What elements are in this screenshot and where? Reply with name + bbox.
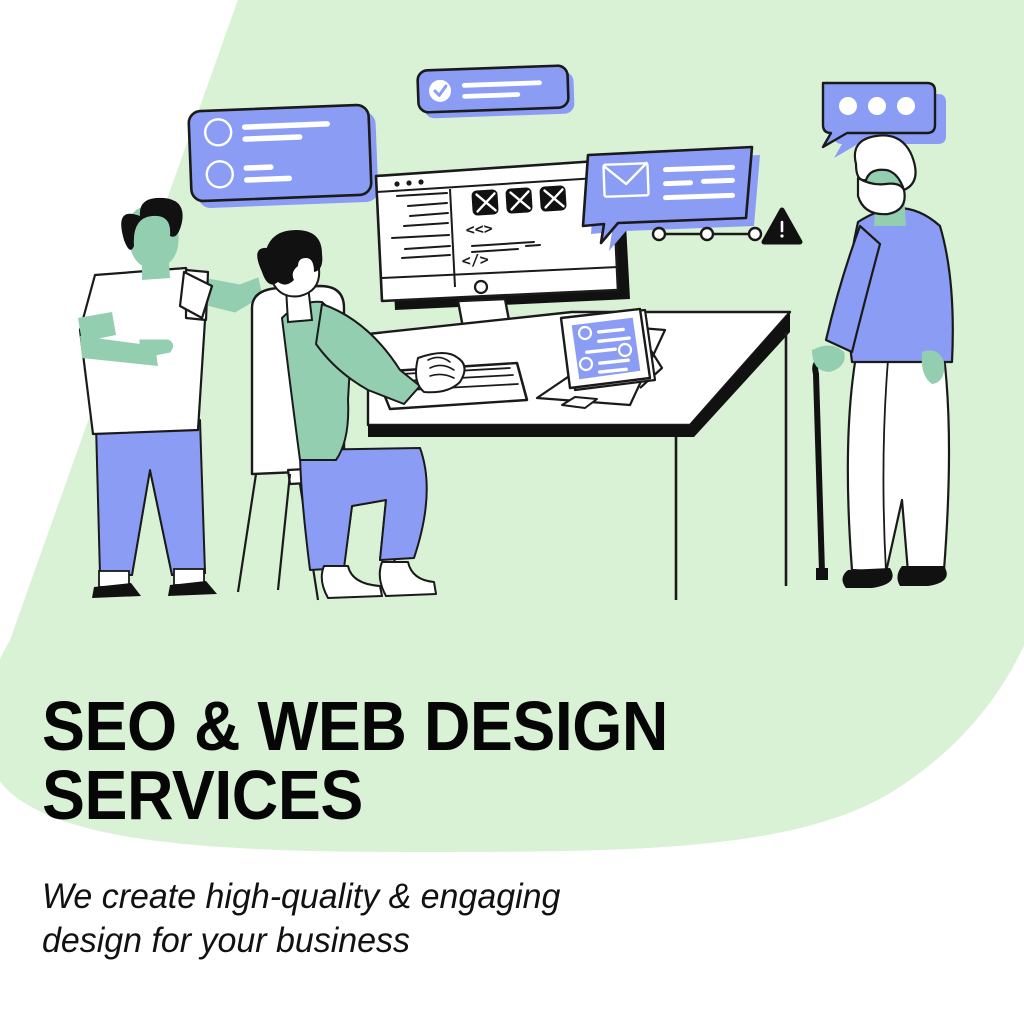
task-complete-card[interactable] [417, 65, 574, 118]
poster-canvas: <<> </> [0, 0, 1024, 1024]
illustration-svg: <<> </> [0, 0, 1024, 1024]
code-tag-close: </> [461, 250, 489, 270]
image-placeholder [539, 185, 567, 212]
window-dot [394, 181, 399, 186]
step-dot [749, 228, 761, 240]
image-placeholder [505, 187, 533, 214]
step-dot [701, 228, 713, 240]
page-subtitle: We create high-quality & engaging design… [42, 875, 760, 963]
code-tag-open: <<> [465, 219, 493, 239]
page-title: SEO & WEB DESIGN SERVICES [42, 692, 741, 829]
step-dot [653, 228, 665, 240]
ellipsis-dot [839, 97, 857, 115]
ellipsis-dot [897, 97, 915, 115]
window-dot [418, 179, 423, 184]
image-placeholder [471, 189, 499, 216]
ellipsis-dot [868, 97, 886, 115]
window-dot [406, 180, 411, 185]
headline-block: SEO & WEB DESIGN SERVICES [42, 692, 802, 829]
beard [858, 178, 905, 214]
notification-card-large[interactable] [188, 105, 378, 209]
